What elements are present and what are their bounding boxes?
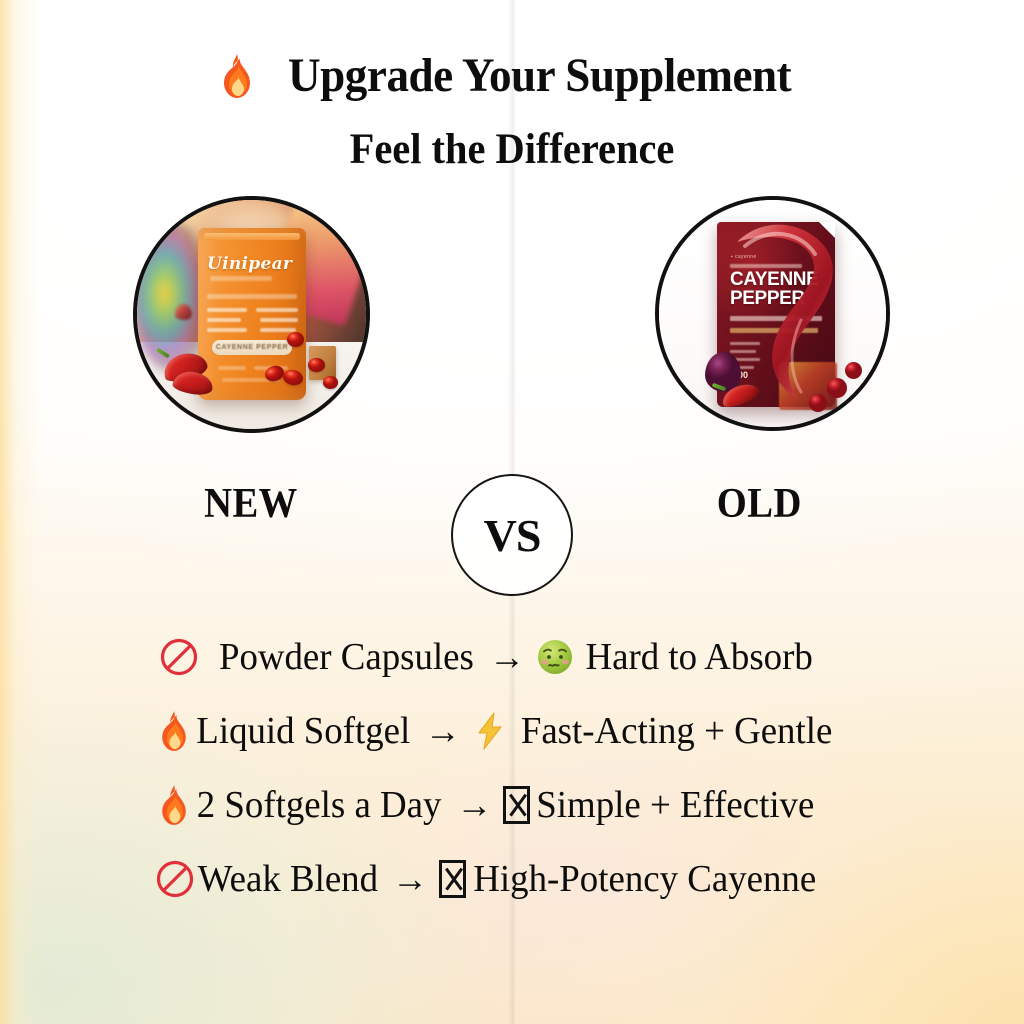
pouch-footer-line: [218, 366, 246, 370]
prohibited-icon: [155, 859, 195, 899]
benefits-list: Powder Capsules →: [0, 620, 1024, 916]
red-softgel: [323, 376, 338, 389]
missing-glyph-box: [503, 786, 530, 824]
pouch-text-line: [207, 294, 297, 299]
pouch-text-line: [207, 328, 247, 332]
benefit-after: High-Potency Cayenne: [473, 857, 816, 901]
pouch-text-line: [730, 350, 756, 353]
red-softgel: [308, 358, 325, 372]
missing-glyph-box: [439, 860, 466, 898]
benefit-row: Powder Capsules →: [0, 620, 1024, 694]
red-berry: [809, 394, 827, 412]
arrow-glyph: →: [478, 636, 536, 678]
new-product-circle-wrap: Uinipear CAYENNE PEPPER: [133, 196, 370, 433]
benefit-after: Simple + Effective: [537, 783, 815, 827]
vs-label: VS: [484, 509, 541, 562]
old-product-circle-wrap: ▪ cayenne CAYENNE PEPPER 400: [655, 196, 890, 431]
poster-canvas: Upgrade Your Supplement Feel the Differe…: [0, 0, 1024, 1024]
pouch-text-line: [260, 318, 298, 322]
old-product-title-line-2: PEPPER: [730, 288, 805, 309]
new-product-brand: Uinipear: [207, 254, 292, 274]
pouch-text-line: [210, 276, 272, 281]
pouch-text-line: [207, 318, 241, 322]
arrow-glyph: →: [381, 858, 439, 900]
arrow-glyph: →: [414, 710, 472, 752]
headline-line-2: Feel the Difference: [31, 125, 994, 174]
fire-emoji: [155, 709, 193, 753]
prohibited-icon: [159, 637, 199, 677]
arrow-glyph: →: [445, 784, 503, 826]
benefit-row: Liquid Softgel → Fast-Acting + Gentle: [0, 694, 1024, 768]
headline-block: Upgrade Your Supplement Feel the Differe…: [0, 48, 1024, 174]
pouch-text-line: [260, 328, 296, 332]
pouch-text-line: [207, 308, 247, 312]
old-product-title-line-1: CAYENNE: [730, 269, 818, 290]
benefit-after: Hard to Absorb: [585, 635, 812, 679]
benefit-before: Powder Capsules: [219, 635, 474, 679]
new-product-photo: Uinipear CAYENNE PEPPER: [133, 196, 370, 433]
fire-emoji: [216, 53, 258, 99]
chili-pepper-blurred: [175, 304, 192, 320]
benefit-before: Liquid Softgel: [196, 709, 410, 753]
old-product-photo: ▪ cayenne CAYENNE PEPPER 400: [655, 196, 890, 431]
headline-line-1: Upgrade Your Supplement: [288, 48, 791, 103]
comparison-section: Uinipear CAYENNE PEPPER: [0, 196, 1024, 526]
new-label: NEW: [204, 480, 298, 528]
new-product-scene: Uinipear CAYENNE PEPPER: [137, 200, 366, 429]
pouch-text-line: [730, 342, 760, 345]
benefit-after: Fast-Acting + Gentle: [520, 709, 832, 753]
pouch-text-line: [730, 264, 802, 268]
benefit-row: Weak Blend → High-Potency Cayenne: [0, 842, 1024, 916]
red-softgel: [287, 332, 304, 347]
lightning-bolt-emoji: [472, 711, 508, 751]
red-berry: [845, 362, 862, 379]
fire-emoji: [155, 783, 193, 827]
vs-badge: VS: [451, 474, 573, 596]
red-berry: [827, 378, 847, 398]
old-product-scene: ▪ cayenne CAYENNE PEPPER 400: [659, 200, 886, 427]
new-product-badge-label: CAYENNE PEPPER: [212, 340, 292, 355]
pouch-text-line: [730, 316, 822, 321]
headline-primary-row: Upgrade Your Supplement: [0, 48, 1024, 103]
old-product-brandmark: ▪ cayenne: [731, 254, 757, 260]
benefit-row: 2 Softgels a Day → Simple + Effective: [0, 768, 1024, 842]
benefit-before: Weak Blend: [198, 857, 378, 901]
pouch-text-line: [256, 308, 298, 312]
nauseated-face-emoji: [536, 638, 574, 676]
new-product-badge: CAYENNE PEPPER: [212, 340, 292, 355]
old-label: OLD: [717, 480, 802, 528]
benefit-before: 2 Softgels a Day: [197, 783, 442, 827]
pouch-text-line: [730, 328, 818, 333]
old-product-title: CAYENNE PEPPER: [730, 270, 818, 308]
